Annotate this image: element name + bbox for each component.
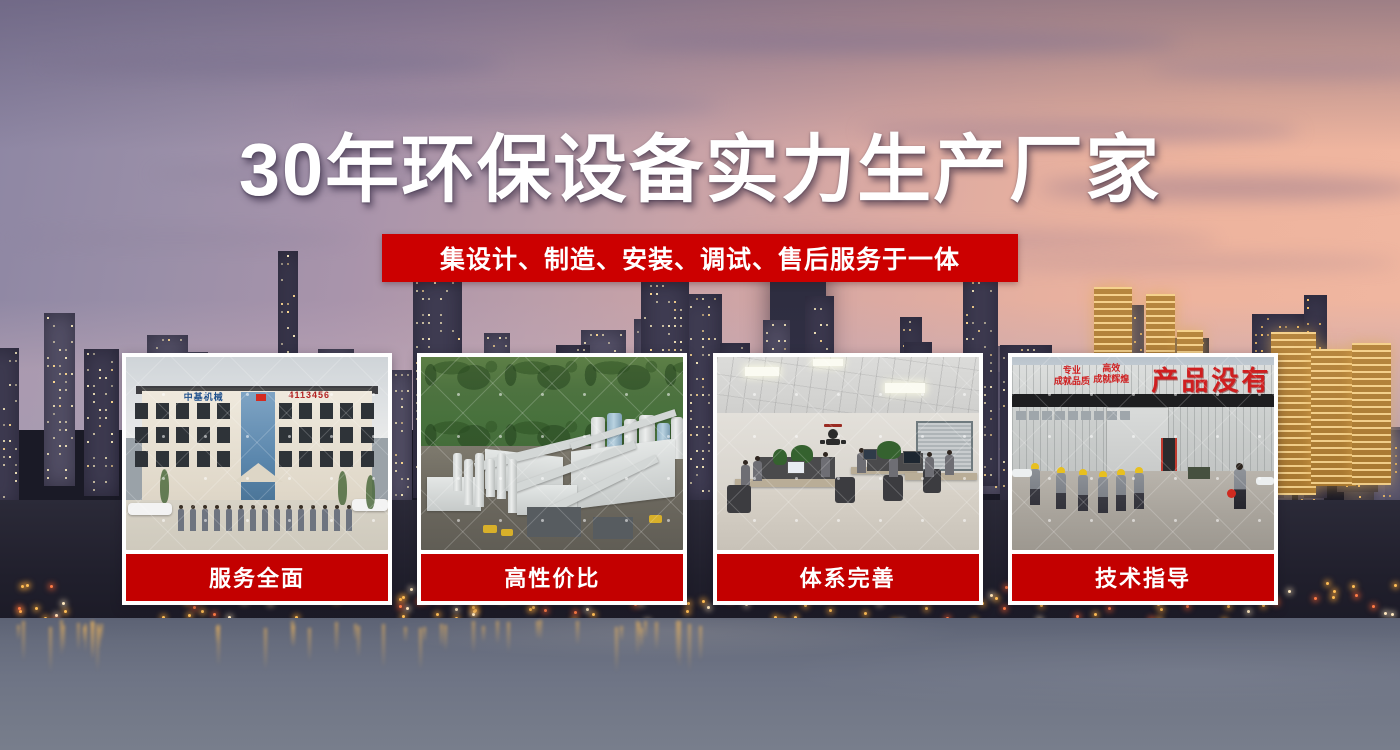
photo-detail [135, 403, 148, 419]
water-reflection [264, 628, 267, 670]
feature-card-caption: 高性价比 [421, 554, 683, 601]
water-reflection [482, 626, 485, 642]
factory-wall-slogan-2b: 成就辉煌 [1093, 374, 1129, 384]
photo-detail [346, 509, 352, 531]
photo-detail [1055, 411, 1065, 420]
wall-decal-icon [816, 423, 850, 449]
photo-detail [135, 427, 148, 443]
photo-detail [238, 509, 244, 531]
photo-detail [298, 509, 304, 531]
photo-detail [135, 451, 148, 467]
water-reflection [335, 622, 338, 653]
water-reflection [423, 627, 426, 643]
photo-detail [889, 457, 898, 477]
water-reflection [620, 626, 623, 641]
photo-detail [1056, 473, 1066, 509]
water-reflection [699, 626, 702, 662]
subtitle-banner: 集设计、制造、安装、调试、售后服务于一体 [382, 234, 1018, 282]
photo-detail [202, 509, 208, 531]
photo-detail [1068, 411, 1078, 420]
photo-detail [945, 455, 954, 475]
illuminated-building [1352, 343, 1391, 485]
water-reflection [404, 627, 407, 642]
factory-wall-slogan-1b: 成就品质 [1054, 376, 1090, 386]
photo-detail [1134, 473, 1144, 509]
photo-detail [1098, 477, 1108, 513]
water-reflection [496, 621, 499, 644]
photo-detail [226, 509, 232, 531]
photo-detail [286, 509, 292, 531]
photo-detail [197, 403, 210, 419]
building [0, 348, 19, 508]
photo-detail [508, 459, 517, 513]
photo-detail [649, 515, 662, 523]
photo-detail [176, 427, 189, 443]
feature-card-caption: 体系完善 [717, 554, 979, 601]
building [44, 313, 75, 486]
feature-card[interactable]: 产品没有 专业 成就品质 高效 成就辉煌 技术指导 [1008, 353, 1278, 605]
photo-detail [217, 451, 230, 467]
photo-detail [1081, 411, 1091, 420]
photo-detail [593, 517, 633, 539]
building [84, 349, 118, 496]
water-reflection [382, 624, 385, 668]
photo-detail [322, 509, 328, 531]
photo-detail [340, 427, 353, 443]
water-reflection [678, 621, 681, 668]
photo-detail [197, 451, 210, 467]
photo-detail [214, 509, 220, 531]
photo-detail [1234, 469, 1246, 509]
photo-detail [156, 427, 169, 443]
water-reflection [60, 620, 63, 655]
photo-detail [883, 475, 903, 501]
feature-card[interactable]: 高性价比 [417, 353, 687, 605]
photo-detail [176, 451, 189, 467]
water-reflection [419, 628, 422, 671]
photo-detail [821, 457, 830, 477]
building-sign-text: 中基机械 [184, 390, 224, 403]
water-reflection [640, 628, 643, 649]
photo-detail [340, 451, 353, 467]
photo-detail [464, 459, 473, 505]
water-reflection [444, 625, 447, 651]
factory-wall-slogan-2: 高效 [1102, 363, 1120, 373]
photo-detail [320, 451, 333, 467]
photo-detail [1107, 411, 1117, 420]
water-reflection [644, 621, 647, 639]
photo-detail [250, 509, 256, 531]
photo-detail [497, 453, 506, 499]
photo-detail [299, 451, 312, 467]
photo-detail [1042, 411, 1052, 420]
photo-detail [178, 509, 184, 531]
hero-banner: 30年环保设备实力生产厂家 集设计、制造、安装、调试、售后服务于一体 中基机械 … [0, 0, 1400, 750]
photo-detail [753, 461, 762, 481]
photo-detail [361, 427, 374, 443]
photo-detail [486, 459, 495, 497]
photo-detail [190, 509, 196, 531]
factory-wall-headline: 产品没有 [1151, 359, 1271, 398]
photo-detail [1016, 411, 1026, 420]
photo-detail [1256, 477, 1274, 485]
water-reflection [357, 626, 360, 658]
photo-detail [741, 465, 750, 485]
photo-detail [299, 427, 312, 443]
photo-detail [274, 509, 280, 531]
flag-icon [256, 394, 266, 401]
photo-detail [863, 449, 877, 460]
photo-detail [310, 509, 316, 531]
factory-training-photo: 产品没有 专业 成就品质 高效 成就辉煌 [1012, 357, 1274, 550]
photo-detail [334, 509, 340, 531]
photo-detail [1116, 475, 1126, 511]
cloud-streak [300, 95, 720, 115]
photo-detail [156, 451, 169, 467]
feature-card[interactable]: 体系完善 [713, 353, 983, 605]
photo-detail [483, 525, 497, 533]
water-reflection [539, 620, 542, 639]
photo-detail [156, 403, 169, 419]
photo-detail [1029, 411, 1039, 420]
water-reflection [655, 622, 658, 649]
photo-detail [925, 457, 934, 477]
photo-detail [1188, 467, 1210, 479]
photo-detail [217, 403, 230, 419]
photo-detail [160, 469, 169, 503]
photo-detail [366, 475, 375, 509]
photo-detail [279, 451, 292, 467]
cloud-streak [620, 30, 1180, 54]
photo-detail [877, 441, 901, 459]
feature-card-caption: 服务全面 [126, 554, 388, 601]
water-reflection [84, 624, 87, 653]
illuminated-building [1311, 349, 1356, 486]
water-reflection [17, 625, 20, 640]
photo-detail [727, 485, 751, 513]
photo-detail [1227, 489, 1236, 498]
photo-detail [527, 507, 581, 537]
water-reflection [507, 622, 510, 652]
water-reflection [291, 621, 294, 646]
photo-detail [340, 403, 353, 419]
photo-detail [338, 471, 347, 505]
photo-detail [197, 427, 210, 443]
feature-card-row: 中基机械 4113456 服务全面 高性价比 [122, 353, 1278, 605]
factory-wall-slogan-1: 专业 [1063, 365, 1081, 375]
water-reflection [615, 627, 618, 672]
photo-detail [299, 403, 312, 419]
water-reflection [49, 627, 52, 672]
photo-detail [745, 367, 779, 376]
photo-detail [279, 427, 292, 443]
water-reflection [440, 624, 443, 647]
photo-detail [903, 451, 921, 464]
photo-detail [1120, 411, 1130, 420]
feature-card-caption: 技术指导 [1012, 554, 1274, 601]
cloud-streak [40, 50, 500, 76]
cloud-streak [0, 230, 360, 246]
office-interior-photo [717, 357, 979, 550]
photo-detail [1012, 469, 1032, 477]
photo-detail [279, 403, 292, 419]
photo-detail [773, 449, 787, 465]
building-phone-text: 4113456 [288, 390, 330, 400]
subtitle-text: 集设计、制造、安装、调试、售后服务于一体 [440, 240, 960, 276]
photo-detail [835, 477, 855, 503]
water-reflection [472, 621, 475, 653]
photo-detail [905, 473, 977, 480]
photo-detail [217, 427, 230, 443]
photo-detail [453, 453, 462, 491]
water-reflection [91, 621, 94, 657]
page-title: 30年环保设备实力生产厂家 [0, 133, 1400, 207]
photo-detail [475, 453, 484, 507]
water-reflection [688, 624, 691, 671]
photo-detail [501, 529, 513, 536]
water-reflection [22, 621, 25, 661]
photo-detail [320, 403, 333, 419]
water-reflection [354, 624, 357, 642]
photo-detail [320, 427, 333, 443]
water-reflection [217, 625, 220, 666]
water-reflection [77, 623, 80, 651]
photo-detail [813, 359, 843, 366]
photo-detail [128, 503, 172, 515]
photo-detail [1078, 475, 1088, 511]
water-reflection [98, 628, 101, 649]
water-reflection [576, 621, 579, 646]
photo-detail [262, 509, 268, 531]
photo-detail [1094, 411, 1104, 420]
feature-card[interactable]: 中基机械 4113456 服务全面 [122, 353, 392, 605]
photo-detail [361, 403, 374, 419]
company-headquarters-photo: 中基机械 4113456 [126, 357, 388, 550]
water-reflection [308, 628, 311, 662]
photo-detail [885, 383, 925, 393]
photo-detail [361, 451, 374, 467]
photo-detail [787, 461, 805, 474]
photo-detail [176, 403, 189, 419]
aerial-plant-photo [421, 357, 683, 550]
